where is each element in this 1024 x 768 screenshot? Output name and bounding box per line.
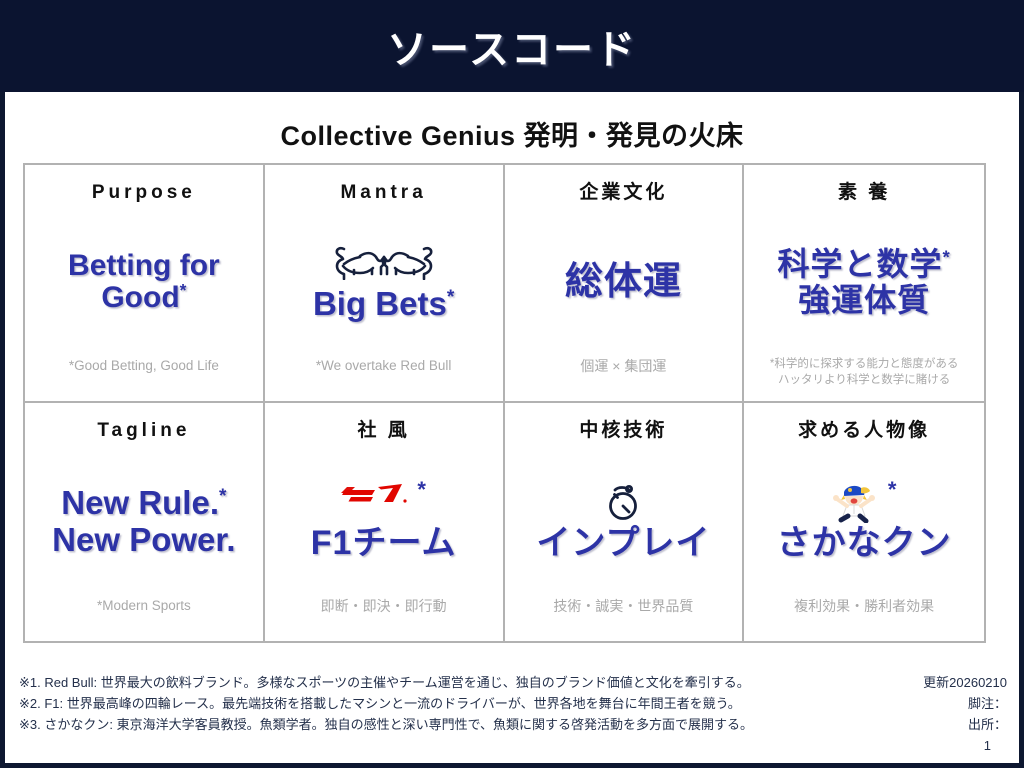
cell-main-text: 科学と数学 — [778, 246, 943, 282]
matrix-cell-mantra[interactable]: Mantra — [265, 165, 505, 403]
cell-main-text: New Rule. — [61, 484, 219, 521]
cell-main-literacy-line2: 強運体質 — [798, 283, 930, 317]
concept-matrix: Purpose Betting for Good* *Good Betting,… — [23, 163, 986, 643]
cell-main-mantra: Big Bets* — [313, 286, 454, 321]
updated-date: 更新20260210 — [857, 672, 1007, 693]
cell-main-target-persona: さかなクン — [777, 525, 952, 561]
cell-body-mantra: Big Bets* — [271, 213, 497, 351]
stopwatch-icon — [602, 481, 644, 528]
cell-main-purpose: Betting for Good* — [31, 250, 257, 314]
cell-main-text: Betting for Good — [68, 249, 220, 314]
icon-container-mantra — [332, 242, 436, 284]
page-title: Collective Genius 発明・発見の火床 — [5, 114, 1019, 153]
footnote-block: ※1. Red Bull: 世界最大の飲料ブランド。多様なスポーツの主催やチーム… — [19, 672, 899, 735]
cell-header-company-style: 社 風 — [357, 417, 409, 451]
matrix-cell-corporate-culture[interactable]: 企業文化 総体運 個運 × 集団運 — [505, 165, 745, 403]
footnote-2: ※2. F1: 世界最高峰の四輪レース。最先端技術を搭載したマシンと一流のドライ… — [19, 693, 899, 714]
cell-header-core-technology: 中核技術 — [579, 417, 667, 451]
sakana-kun-character-icon — [832, 481, 884, 528]
source-label: 出所： — [857, 714, 1007, 735]
matrix-cell-literacy[interactable]: 素 養 科学と数学* 強運体質 *科学的に探求する能力と態度がある ハッタリより… — [744, 165, 984, 403]
cell-note-purpose: *Good Betting, Good Life — [69, 357, 219, 391]
cell-body-purpose: Betting for Good* — [31, 213, 257, 351]
cell-note-core-technology: 技術・誠実・世界品質 — [553, 597, 693, 631]
cell-header-literacy: 素 養 — [838, 179, 890, 213]
matrix-cell-core-technology[interactable]: 中核技術 イ — [505, 403, 745, 641]
asterisk-mark: * — [417, 479, 426, 501]
cell-header-tagline: Tagline — [97, 417, 190, 451]
cell-note-line-1: *科学的に探求する能力と態度がある — [770, 357, 958, 373]
cell-note-tagline: *Modern Sports — [97, 597, 191, 631]
footnote-1: ※1. Red Bull: 世界最大の飲料ブランド。多様なスポーツの主催やチーム… — [19, 672, 899, 693]
slide-header-bar: ソースコード — [0, 0, 1024, 92]
cell-header-target-persona: 求める人物像 — [798, 417, 930, 451]
icon-container-company-style: * — [341, 481, 426, 523]
cell-note-line-2: ハッタリより科学と数学に賭ける — [770, 373, 958, 389]
matrix-cell-tagline[interactable]: Tagline New Rule.* New Power. *Modern Sp… — [25, 403, 265, 641]
asterisk-mark: * — [180, 280, 187, 300]
cell-body-target-persona: * さかなクン — [750, 451, 978, 591]
cell-main-tagline-line2: New Power. — [52, 522, 235, 557]
cell-header-purpose: Purpose — [92, 179, 196, 213]
matrix-cell-purpose[interactable]: Purpose Betting for Good* *Good Betting,… — [25, 165, 265, 403]
cell-body-company-style: * F1チーム — [271, 451, 497, 591]
cell-note-corporate-culture: 個運 × 集団運 — [580, 357, 666, 391]
footnote-label: 脚注： — [857, 693, 1007, 714]
cell-body-core-technology: インプレイ — [511, 451, 737, 591]
asterisk-mark: * — [219, 486, 226, 507]
f1-logo-icon — [341, 481, 413, 512]
cell-note-literacy: *科学的に探求する能力と態度がある ハッタリより科学と数学に賭ける — [770, 357, 958, 391]
cell-header-mantra: Mantra — [340, 179, 426, 213]
icon-container-target-persona: * — [832, 481, 897, 523]
matrix-cell-company-style[interactable]: 社 風 — [265, 403, 505, 641]
cell-main-text: Big Bets — [313, 285, 447, 322]
asterisk-mark: * — [888, 479, 897, 501]
cell-note-target-persona: 複利効果・勝利者効果 — [794, 597, 934, 631]
asterisk-mark: * — [447, 287, 454, 308]
slide-header-title: ソースコード — [387, 17, 637, 75]
icon-container-core-technology — [602, 481, 644, 523]
cell-note-mantra: *We overtake Red Bull — [316, 357, 452, 391]
page-number: 1 — [857, 735, 1007, 756]
cell-main-tagline: New Rule.* — [61, 485, 226, 520]
footnote-3: ※3. さかなクン: 東京海洋大学客員教授。魚類学者。独自の感性と深い専門性で、… — [19, 714, 899, 735]
slide-root: ソースコード Collective Genius 発明・発見の火床 Purpos… — [0, 0, 1024, 768]
cell-main-core-technology: インプレイ — [536, 525, 710, 561]
cell-body-corporate-culture: 総体運 — [511, 213, 737, 351]
two-bulls-icon — [332, 242, 436, 285]
cell-body-literacy: 科学と数学* 強運体質 — [750, 213, 978, 351]
cell-header-corporate-culture: 企業文化 — [579, 179, 667, 213]
cell-note-company-style: 即断・即決・即行動 — [321, 597, 447, 631]
footer-meta-block: 更新20260210 脚注： 出所： 1 — [857, 672, 1007, 756]
cell-main-literacy: 科学と数学* — [778, 247, 951, 281]
asterisk-mark: * — [943, 246, 951, 267]
matrix-cell-target-persona[interactable]: 求める人物像 — [744, 403, 984, 641]
cell-main-company-style: F1チーム — [311, 525, 457, 561]
cell-main-corporate-culture: 総体運 — [565, 262, 682, 303]
cell-body-tagline: New Rule.* New Power. — [31, 451, 257, 591]
